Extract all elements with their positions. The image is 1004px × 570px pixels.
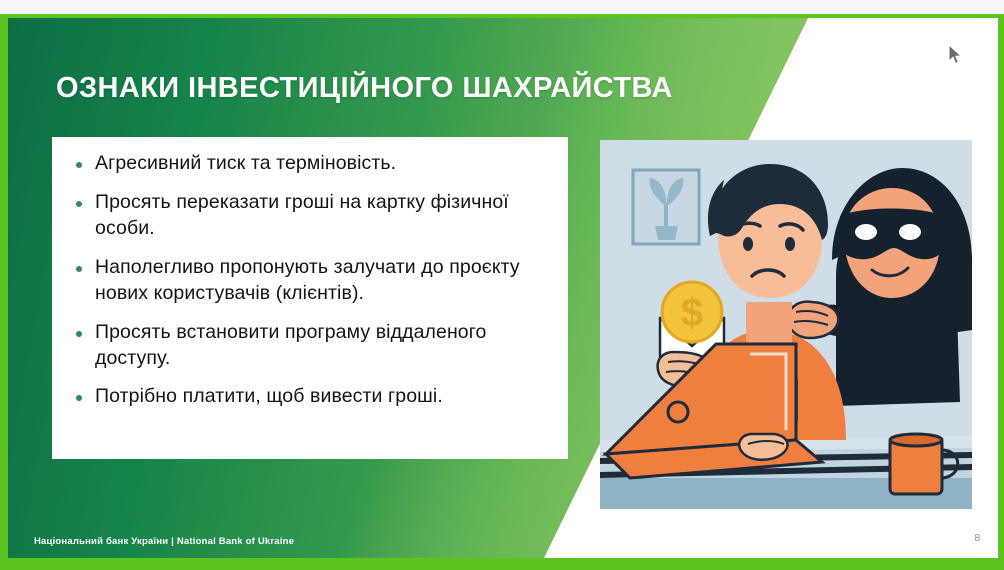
bullet-list-card: Агресивний тиск та терміновість. Просять… [52,137,568,459]
bullet-dot-icon [76,395,82,401]
slide-canvas: ОЗНАКИ ІНВЕСТИЦІЙНОГО ШАХРАЙСТВА Агресив… [8,18,998,566]
svg-text:$: $ [681,291,703,335]
bullet-text: Наполегливо пропонують залучати до проєк… [95,255,550,307]
page-title: ОЗНАКИ ІНВЕСТИЦІЙНОГО ШАХРАЙСТВА [56,72,756,105]
bullet-text: Просять переказати гроші на картку фізич… [95,190,550,242]
slide-green-frame: ОЗНАКИ ІНВЕСТИЦІЙНОГО ШАХРАЙСТВА Агресив… [0,14,1004,570]
bottom-green-strip [8,558,998,566]
bullet-text: Просять встановити програму віддаленого … [95,320,550,372]
bullet-text: Агресивний тиск та терміновість. [95,151,396,177]
investment-scam-illustration: GLOBAL MONEY WEEK $ [600,140,972,509]
list-item: Агресивний тиск та терміновість. [70,151,550,177]
mouse-pointer-icon [948,44,964,66]
footer-brand: Національний банк України | National Ban… [34,536,294,547]
list-item: Просять переказати гроші на картку фізич… [70,190,550,242]
bullet-dot-icon [76,266,82,272]
list-item: Потрібно платити, щоб вивести гроші. [70,384,550,410]
page-number: 8 [974,533,980,544]
slide-viewer: ОЗНАКИ ІНВЕСТИЦІЙНОГО ШАХРАЙСТВА Агресив… [0,0,1004,570]
bullet-dot-icon [76,331,82,337]
bullet-text: Потрібно платити, щоб вивести гроші. [95,384,443,410]
list-item: Просять встановити програму віддаленого … [70,320,550,372]
wall-picture-plant [633,170,699,244]
list-item: Наполегливо пропонують залучати до проєк… [70,255,550,307]
bullet-dot-icon [76,162,82,168]
bullet-dot-icon [76,201,82,207]
